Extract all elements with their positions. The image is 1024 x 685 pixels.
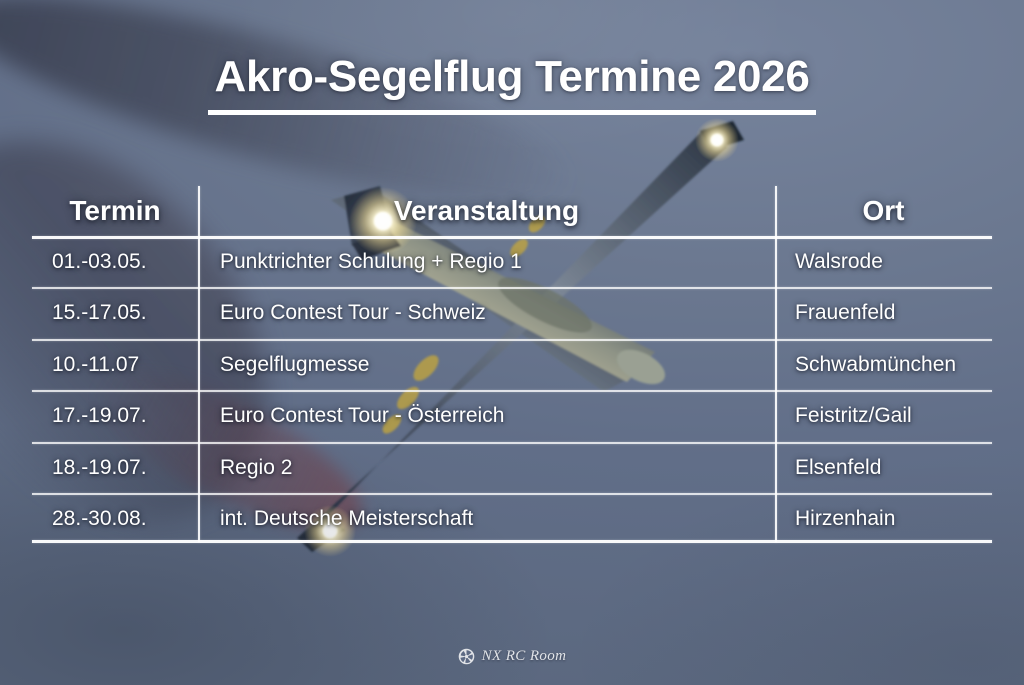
cell-termin: 17.-19.07. xyxy=(32,391,198,443)
cell-termin: 28.-30.08. xyxy=(32,494,198,546)
table-header-row: Termin Veranstaltung Ort xyxy=(32,186,992,236)
cell-veranstaltung: Segelflugmesse xyxy=(198,339,775,391)
cell-termin: 15.-17.05. xyxy=(32,288,198,340)
column-header-termin: Termin xyxy=(32,186,198,236)
cell-veranstaltung: Euro Contest Tour - Schweiz xyxy=(198,288,775,340)
cell-ort: Frauenfeld xyxy=(775,288,992,340)
camera-shutter-icon xyxy=(458,648,475,665)
table-row: 17.-19.07. Euro Contest Tour - Österreic… xyxy=(32,391,992,443)
cell-ort: Schwabmünchen xyxy=(775,339,992,391)
table-row: 28.-30.08. int. Deutsche Meisterschaft H… xyxy=(32,494,992,546)
cell-veranstaltung: Regio 2 xyxy=(198,442,775,494)
cell-termin: 01.-03.05. xyxy=(32,236,198,288)
cell-termin: 10.-11.07 xyxy=(32,339,198,391)
page-title: Akro-Segelflug Termine 2026 xyxy=(208,52,815,115)
cell-termin: 18.-19.07. xyxy=(32,442,198,494)
schedule-table: Termin Veranstaltung Ort 01.-03.05. Punk… xyxy=(32,186,992,542)
glider-right-tip-glint-core-icon xyxy=(711,134,723,146)
table-row: 01.-03.05. Punktrichter Schulung + Regio… xyxy=(32,236,992,288)
watermark: NX RC Room xyxy=(0,648,1024,665)
cell-ort: Feistritz/Gail xyxy=(775,391,992,443)
column-header-veranstaltung: Veranstaltung xyxy=(198,186,775,236)
table-row: 18.-19.07. Regio 2 Elsenfeld xyxy=(32,442,992,494)
cell-veranstaltung: int. Deutsche Meisterschaft xyxy=(198,494,775,546)
column-header-ort: Ort xyxy=(775,186,992,236)
cell-ort: Hirzenhain xyxy=(775,494,992,546)
cell-veranstaltung: Punktrichter Schulung + Regio 1 xyxy=(198,236,775,288)
table-row: 10.-11.07 Segelflugmesse Schwabmünchen xyxy=(32,339,992,391)
watermark-text: NX RC Room xyxy=(482,648,567,665)
table-row: 15.-17.05. Euro Contest Tour - Schweiz F… xyxy=(32,288,992,340)
cell-ort: Elsenfeld xyxy=(775,442,992,494)
cell-ort: Walsrode xyxy=(775,236,992,288)
page-title-container: Akro-Segelflug Termine 2026 xyxy=(0,52,1024,115)
cell-veranstaltung: Euro Contest Tour - Österreich xyxy=(198,391,775,443)
